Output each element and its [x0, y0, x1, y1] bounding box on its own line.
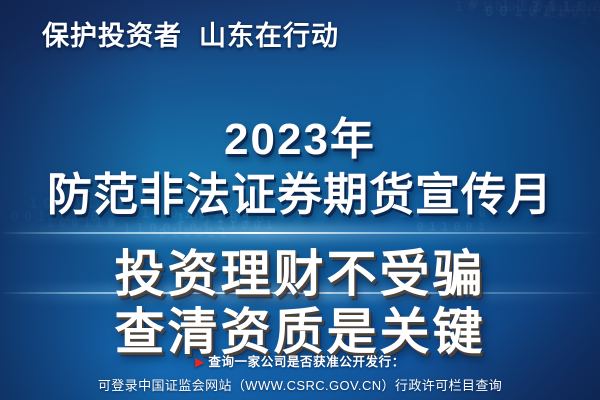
- red-triangle-icon: ▶: [195, 355, 204, 369]
- footer-block: ▶查询一家公司是否获准公开发行： 可登录中国证监会网站（WWW.CSRC.GOV…: [0, 351, 600, 394]
- header-slogan: 保护投资者 山东在行动: [42, 14, 339, 53]
- footer-primary-line: ▶查询一家公司是否获准公开发行：: [0, 351, 600, 370]
- investor-protection-poster: 1 0 1 1 0 1 0 0 1 0 10 1 0 1 1 0 0 1 1 0…: [0, 0, 600, 400]
- footer-line-1-text: 查询一家公司是否获准公开发行：: [208, 355, 405, 369]
- poster-text-layer: 保护投资者 山东在行动 2023年 防范非法证券期货宣传月 投资理财不受骗 查清…: [0, 0, 600, 400]
- campaign-title: 防范非法证券期货宣传月: [0, 158, 600, 223]
- footer-secondary-line: 可登录中国证监会网站（WWW.CSRC.GOV.CN）行政许可栏目查询: [0, 375, 600, 394]
